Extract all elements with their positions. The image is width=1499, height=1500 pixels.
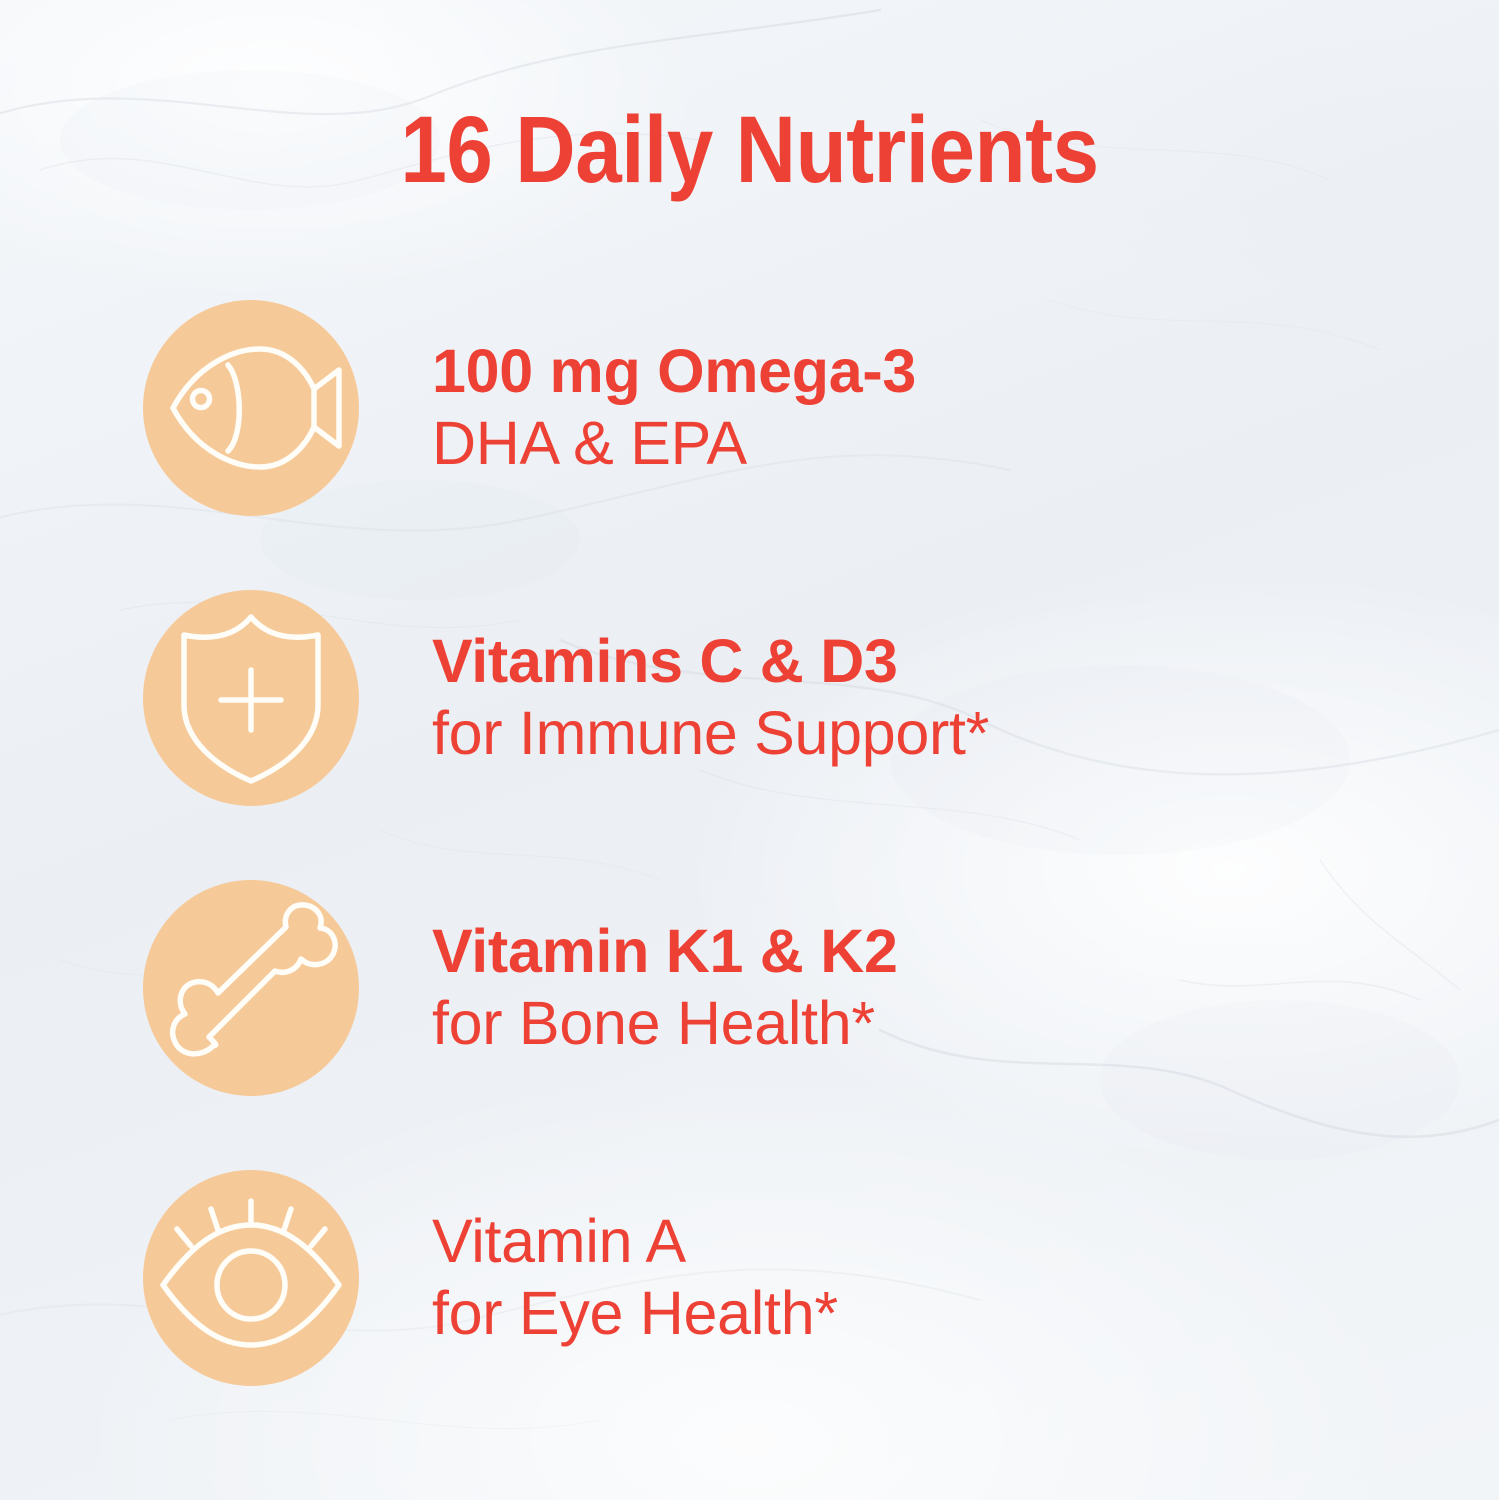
benefit-row-eye: Vitamin A for Eye Health* [0, 1170, 1499, 1386]
bone-icon [161, 898, 341, 1078]
benefit-heading: Vitamin A [432, 1206, 838, 1278]
fish-icon [156, 313, 346, 503]
benefit-heading: Vitamins C & D3 [432, 626, 989, 698]
benefit-subtext: DHA & EPA [432, 408, 916, 480]
benefit-text-bone: Vitamin K1 & K2 for Bone Health* [432, 916, 898, 1060]
benefit-row-bone: Vitamin K1 & K2 for Bone Health* [0, 880, 1499, 1096]
eye-icon [153, 1193, 349, 1363]
page-title: 16 Daily Nutrients [90, 101, 1409, 201]
benefit-heading: Vitamin K1 & K2 [432, 916, 898, 988]
benefit-subtext: for Eye Health* [432, 1278, 838, 1350]
benefit-text-eye: Vitamin A for Eye Health* [432, 1206, 838, 1350]
benefit-text-omega3: 100 mg Omega-3 DHA & EPA [432, 336, 916, 480]
benefit-subtext: for Immune Support* [432, 698, 989, 770]
icon-circle-fish [143, 300, 359, 516]
benefit-subtext: for Bone Health* [432, 988, 898, 1060]
icon-circle-shield [143, 590, 359, 806]
benefit-row-omega3: 100 mg Omega-3 DHA & EPA [0, 300, 1499, 516]
infographic-poster: 16 Daily Nutrients 100 mg Omega-3 DHA & … [0, 0, 1499, 1500]
benefit-heading: 100 mg Omega-3 [432, 336, 916, 408]
benefit-text-immune: Vitamins C & D3 for Immune Support* [432, 626, 989, 770]
benefit-row-immune: Vitamins C & D3 for Immune Support* [0, 590, 1499, 806]
shield-plus-icon [166, 609, 336, 787]
icon-circle-eye [143, 1170, 359, 1386]
icon-circle-bone [143, 880, 359, 1096]
